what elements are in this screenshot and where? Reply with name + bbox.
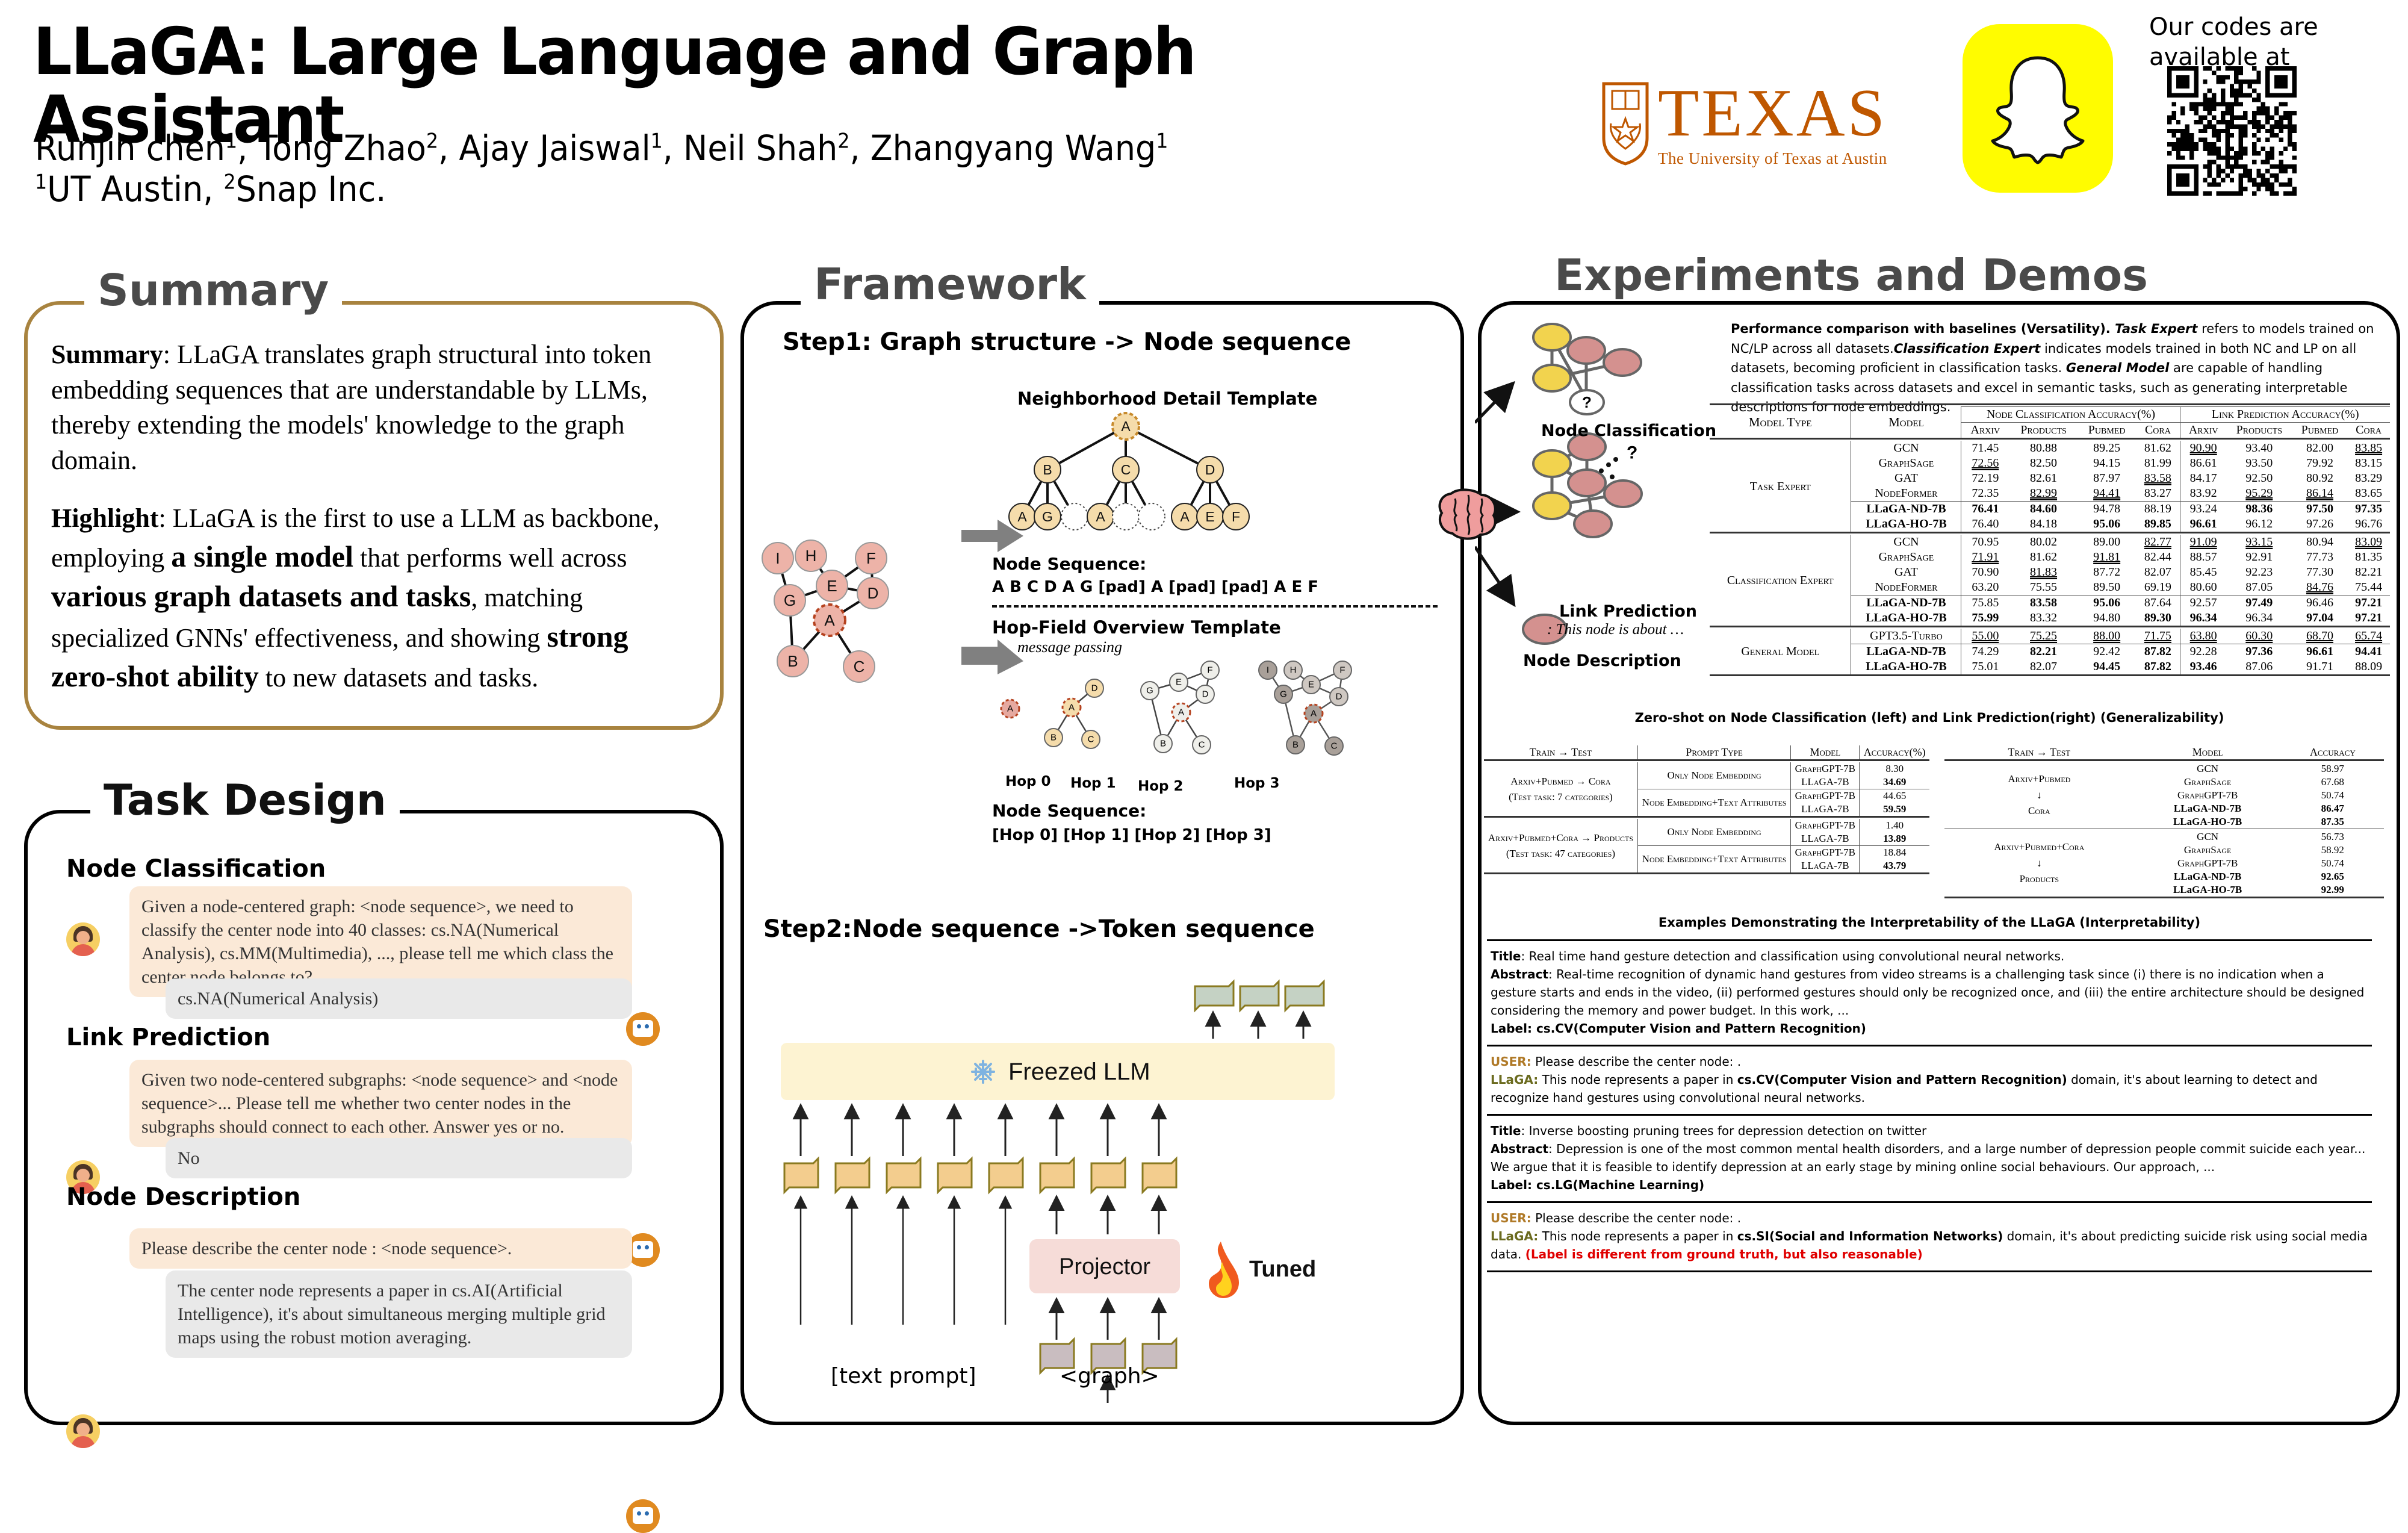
zsl-prompt: Only Node Embedding bbox=[1637, 819, 1790, 846]
row-group-1: Classification Expert bbox=[1710, 535, 1851, 627]
cell-value: 82.07 bbox=[2135, 565, 2180, 580]
task-illustration-diagram: ? ? bbox=[1475, 313, 1728, 711]
zsl-acc: 34.69 bbox=[1860, 776, 1929, 789]
cell-value: 91.09 bbox=[2180, 535, 2226, 550]
cell-value: 89.25 bbox=[2078, 441, 2136, 456]
svg-text:E: E bbox=[1176, 677, 1182, 688]
cell-value: 63.20 bbox=[1961, 580, 2009, 595]
avatar-bot-3 bbox=[626, 1499, 660, 1533]
user-bubble-node-description: Please describe the center node : <node … bbox=[129, 1228, 632, 1269]
framework-divider bbox=[992, 605, 1438, 608]
zsr-acc: 86.47 bbox=[2282, 802, 2384, 815]
cell-value: 95.06 bbox=[2078, 595, 2136, 611]
cell-model: GAT bbox=[1851, 471, 1961, 486]
bot-bubble-node-classification: cs.NA(Numerical Analysis) bbox=[166, 978, 632, 1019]
cell-value: 81.35 bbox=[2347, 550, 2390, 565]
cell-value: 83.65 bbox=[2347, 486, 2390, 502]
snapchat-logo bbox=[1963, 24, 2113, 193]
experiments-intro-paragraph: Performance comparison with baselines (V… bbox=[1731, 319, 2387, 417]
cell-value: 92.42 bbox=[2078, 644, 2136, 660]
svg-text:C: C bbox=[854, 658, 865, 676]
cell-model: GraphSage bbox=[1851, 550, 1961, 565]
cell-value: 77.30 bbox=[2292, 565, 2347, 580]
svg-text:A: A bbox=[1121, 418, 1131, 434]
user-bubble-link-prediction: Given two node-centered subgraphs: <node… bbox=[129, 1060, 632, 1147]
summary-panel-title: Summary bbox=[84, 265, 342, 316]
zsl-prompt: Node Embedding+Text Attributes bbox=[1637, 789, 1790, 817]
cell-value: 75.85 bbox=[1961, 595, 2009, 611]
svg-text:Tuned: Tuned bbox=[1249, 1257, 1316, 1282]
interpretability-examples: Title: Real time hand gesture detection … bbox=[1487, 939, 2372, 1272]
zsr-acc: 92.99 bbox=[2282, 883, 2384, 898]
cell-value: 86.14 bbox=[2292, 486, 2347, 502]
interpretability-caption: Examples Demonstrating the Interpretabil… bbox=[1487, 915, 2372, 930]
hop-label-2: Hop 2 bbox=[1138, 779, 1184, 794]
cell-model: LLaGA-ND-7B bbox=[1851, 502, 1961, 517]
svg-text:?: ? bbox=[1627, 443, 1637, 463]
cell-value: 87.06 bbox=[2226, 659, 2292, 676]
texas-wordmark: TEXAS bbox=[1658, 79, 1887, 147]
zsr-acc: 58.97 bbox=[2282, 762, 2384, 776]
summary-label-1: Summary bbox=[51, 340, 163, 369]
author-list: Runjin chen1, Tong Zhao2, Ajay Jaiswal1,… bbox=[35, 126, 1435, 170]
table-row: Arxiv+Pubmed → Cora(Test task: 7 categor… bbox=[1484, 762, 1929, 776]
th-nc-pubmed: Pubmed bbox=[2078, 423, 2136, 439]
ut-austin-logo: TEXAS The University of Texas at Austin bbox=[1601, 72, 1938, 175]
cell-value: 92.50 bbox=[2226, 471, 2292, 486]
svg-text:B: B bbox=[1050, 733, 1057, 743]
cell-model: LLaGA-HO-7B bbox=[1851, 611, 1961, 627]
cell-value: 84.18 bbox=[2009, 517, 2078, 533]
bot-bubble-node-description: The center node represents a paper in cs… bbox=[166, 1270, 632, 1358]
zsl-model: GraphGPT-7B bbox=[1791, 846, 1860, 860]
cell-model: LLaGA-ND-7B bbox=[1851, 644, 1961, 660]
hop-field-template-title: Hop-Field Overview Template bbox=[992, 617, 1281, 638]
cell-value: 88.57 bbox=[2180, 550, 2226, 565]
cell-value: 84.60 bbox=[2009, 502, 2078, 517]
row-group-0: Task Expert bbox=[1710, 441, 1851, 533]
cell-value: 76.41 bbox=[1961, 502, 2009, 517]
cell-value: 96.76 bbox=[2347, 517, 2390, 533]
cell-value: 81.83 bbox=[2009, 565, 2078, 580]
interp-block: USER: Please describe the center node: .… bbox=[1487, 1203, 2372, 1270]
cell-value: 80.94 bbox=[2292, 535, 2347, 550]
zsl-model: GraphGPT-7B bbox=[1791, 819, 1860, 832]
cell-model: LLaGA-ND-7B bbox=[1851, 595, 1961, 611]
zsl-traintest: Arxiv+Pubmed → Cora(Test task: 7 categor… bbox=[1484, 762, 1637, 817]
zsl-model: LLaGA-7B bbox=[1791, 832, 1860, 846]
cell-model: LLaGA-HO-7B bbox=[1851, 659, 1961, 676]
cell-value: 93.46 bbox=[2180, 659, 2226, 676]
cell-value: 92.91 bbox=[2226, 550, 2292, 565]
zsl-model: GraphGPT-7B bbox=[1791, 762, 1860, 776]
svg-text:A: A bbox=[824, 611, 835, 629]
zsr-model: GraphSage bbox=[2134, 844, 2282, 857]
zsl-header: Prompt Type bbox=[1637, 745, 1790, 760]
highlight-label: Highlight bbox=[51, 503, 159, 533]
cell-value: 94.80 bbox=[2078, 611, 2136, 627]
svg-text:H: H bbox=[1290, 665, 1297, 676]
cell-value: 87.64 bbox=[2135, 595, 2180, 611]
cell-value: 83.27 bbox=[2135, 486, 2180, 502]
cell-value: 91.81 bbox=[2078, 550, 2136, 565]
svg-text:E: E bbox=[827, 577, 837, 595]
zsl-model: LLaGA-7B bbox=[1791, 776, 1860, 789]
table-row: General ModelGPT3.5-Turbo55.0075.2588.00… bbox=[1710, 629, 2390, 644]
cell-model: NodeFormer bbox=[1851, 486, 1961, 502]
svg-text:B: B bbox=[787, 652, 798, 670]
zeroshot-link-prediction-table: Train → TestModelAccuracyArxiv+Pubmed↓Co… bbox=[1944, 745, 2384, 900]
cell-value: 82.21 bbox=[2347, 565, 2390, 580]
cell-value: 85.45 bbox=[2180, 565, 2226, 580]
cell-value: 74.29 bbox=[1961, 644, 2009, 660]
cell-value: 97.36 bbox=[2226, 644, 2292, 660]
svg-text:A: A bbox=[1069, 703, 1075, 713]
legend-node-description-text: : This node is about … bbox=[1547, 621, 1684, 638]
zsl-header: Train → Test bbox=[1484, 745, 1637, 760]
hop-label-0: Hop 0 bbox=[1005, 774, 1051, 789]
cell-value: 77.73 bbox=[2292, 550, 2347, 565]
cell-value: 94.41 bbox=[2078, 486, 2136, 502]
cell-value: 89.50 bbox=[2078, 580, 2136, 595]
svg-text:A: A bbox=[1311, 709, 1317, 719]
svg-text:?: ? bbox=[1582, 393, 1592, 411]
svg-text:G: G bbox=[1042, 509, 1053, 524]
cell-value: 94.45 bbox=[2078, 659, 2136, 676]
cell-value: 75.44 bbox=[2347, 580, 2390, 595]
cell-value: 90.90 bbox=[2180, 441, 2226, 456]
svg-text:G: G bbox=[1146, 686, 1153, 696]
th-nc-arxiv: Arxiv bbox=[1961, 423, 2009, 439]
cell-value: 79.92 bbox=[2292, 456, 2347, 471]
cell-value: 82.50 bbox=[2009, 456, 2078, 471]
cell-value: 82.44 bbox=[2135, 550, 2180, 565]
source-graph-diagram: IHF EDG ABC bbox=[756, 509, 960, 701]
zsr-model: LLaGA-HO-7B bbox=[2134, 815, 2282, 829]
cell-value: 69.19 bbox=[2135, 580, 2180, 595]
svg-text:D: D bbox=[1202, 689, 1209, 700]
cell-value: 96.12 bbox=[2226, 517, 2292, 533]
cell-value: 86.61 bbox=[2180, 456, 2226, 471]
svg-text:Projector: Projector bbox=[1059, 1254, 1150, 1280]
experiments-panel-title: Experiments and Demos bbox=[1541, 250, 2161, 300]
highlight-e: to new datasets and tasks. bbox=[259, 663, 538, 692]
svg-text:D: D bbox=[867, 584, 879, 602]
interp-abstract: Abstract: Real-time recognition of dynam… bbox=[1491, 965, 2368, 1019]
zsl-prompt: Only Node Embedding bbox=[1637, 762, 1790, 789]
cell-value: 92.57 bbox=[2180, 595, 2226, 611]
neighborhood-tree-diagram: ABCD AGA AEF bbox=[987, 409, 1264, 542]
cell-value: 81.99 bbox=[2135, 456, 2180, 471]
interp-abstract: Abstract: Depression is one of the most … bbox=[1491, 1140, 2368, 1176]
zsr-traintest: Arxiv+Pubmed+Cora↓Products bbox=[1944, 830, 2134, 898]
zsr-acc: 56.73 bbox=[2282, 830, 2384, 844]
cell-value: 70.90 bbox=[1961, 565, 2009, 580]
cell-model: GCN bbox=[1851, 441, 1961, 456]
task-label-link-prediction: Link Prediction bbox=[1559, 602, 1697, 621]
cell-value: 84.76 bbox=[2292, 580, 2347, 595]
cell-value: 89.00 bbox=[2078, 535, 2136, 550]
cell-model: NodeFormer bbox=[1851, 580, 1961, 595]
cell-value: 95.29 bbox=[2226, 486, 2292, 502]
th-lp-products: Products bbox=[2226, 423, 2292, 439]
zsr-header: Model bbox=[2134, 745, 2282, 760]
th-nc-products: Products bbox=[2009, 423, 2078, 439]
interp-llaga-line: LLaGA: This node represents a paper in c… bbox=[1491, 1071, 2368, 1107]
row-group-2: General Model bbox=[1710, 629, 1851, 676]
svg-text:B: B bbox=[1043, 462, 1052, 477]
cell-value: 82.21 bbox=[2009, 644, 2078, 660]
th-model-type: Model Type bbox=[1710, 407, 1851, 439]
brain-icon bbox=[1436, 482, 1502, 548]
cell-value: 92.28 bbox=[2180, 644, 2226, 660]
cell-value: 91.71 bbox=[2292, 659, 2347, 676]
svg-text:E: E bbox=[1308, 680, 1314, 690]
avatar-bot-1 bbox=[626, 1012, 660, 1046]
zsl-acc: 13.89 bbox=[1860, 832, 1929, 846]
cell-value: 80.02 bbox=[2009, 535, 2078, 550]
cell-value: 96.34 bbox=[2226, 611, 2292, 627]
cell-value: 95.06 bbox=[2078, 517, 2136, 533]
interp-title: Title: Inverse boosting pruning trees fo… bbox=[1491, 1122, 2368, 1140]
zsr-header: Accuracy bbox=[2282, 745, 2384, 760]
cell-value: 75.01 bbox=[1961, 659, 2009, 676]
texas-subline: The University of Texas at Austin bbox=[1658, 149, 1887, 168]
interp-block: Title: Inverse boosting pruning trees fo… bbox=[1487, 1116, 2372, 1201]
zsl-prompt: Node Embedding+Text Attributes bbox=[1637, 846, 1790, 874]
cell-value: 71.75 bbox=[2135, 629, 2180, 644]
cell-value: 97.49 bbox=[2226, 595, 2292, 611]
zsr-model: LLaGA-ND-7B bbox=[2134, 870, 2282, 883]
cell-value: 71.91 bbox=[1961, 550, 2009, 565]
svg-text:D: D bbox=[1205, 462, 1215, 477]
interp-label: Label: cs.LG(Machine Learning) bbox=[1491, 1176, 2368, 1194]
zsl-header: Accuracy(%) bbox=[1860, 745, 1929, 760]
svg-text:F: F bbox=[866, 549, 876, 567]
highlight-b1: a single model bbox=[171, 540, 353, 573]
cell-value: 83.58 bbox=[2135, 471, 2180, 486]
svg-text:C: C bbox=[1199, 740, 1205, 750]
cell-value: 88.00 bbox=[2078, 629, 2136, 644]
cell-value: 96.34 bbox=[2180, 611, 2226, 627]
interp-block: USER: Please describe the center node: .… bbox=[1487, 1046, 2372, 1114]
cell-value: 97.21 bbox=[2347, 595, 2390, 611]
step2-architecture-diagram: Freezed LLM Projector bbox=[756, 951, 1442, 1409]
zsr-acc: 50.74 bbox=[2282, 789, 2384, 802]
cell-value: 83.58 bbox=[2009, 595, 2078, 611]
graph-label: <graph> bbox=[1060, 1364, 1159, 1388]
cell-value: 75.55 bbox=[2009, 580, 2078, 595]
summary-paragraph-2: Highlight: LLaGA is the first to use a L… bbox=[51, 501, 689, 697]
zsr-header: Train → Test bbox=[1944, 745, 2134, 760]
zsr-acc: 50.74 bbox=[2282, 857, 2384, 870]
cell-value: 87.72 bbox=[2078, 565, 2136, 580]
zeroshot-node-classification-table: Train → TestPrompt TypeModelAccuracy(%)A… bbox=[1484, 745, 1929, 875]
zsl-acc: 1.40 bbox=[1860, 819, 1929, 832]
task-heading-link-prediction: Link Prediction bbox=[66, 1024, 270, 1051]
table-row: Arxiv+Pubmed+Cora → Products(Test task: … bbox=[1484, 819, 1929, 832]
table-row: Classification ExpertGCN70.9580.0289.008… bbox=[1710, 535, 2390, 550]
cell-value: 71.45 bbox=[1961, 441, 2009, 456]
th-group-nc: Node Classification Accuracy(%) bbox=[1961, 407, 2180, 423]
hf-node-sequence-value: [Hop 0] [Hop 1] [Hop 2] [Hop 3] bbox=[992, 826, 1271, 844]
step1-heading: Step1: Graph structure -> Node sequence bbox=[783, 328, 1351, 356]
cell-value: 82.99 bbox=[2009, 486, 2078, 502]
cell-value: 60.30 bbox=[2226, 629, 2292, 644]
zsr-acc: 87.35 bbox=[2282, 815, 2384, 829]
cell-value: 93.40 bbox=[2226, 441, 2292, 456]
cell-value: 80.92 bbox=[2292, 471, 2347, 486]
zsr-acc: 58.92 bbox=[2282, 844, 2384, 857]
table-row: Task ExpertGCN71.4580.8889.2581.6290.909… bbox=[1710, 441, 2390, 456]
cell-value: 97.35 bbox=[2347, 502, 2390, 517]
cell-value: 96.61 bbox=[2292, 644, 2347, 660]
cell-value: 87.82 bbox=[2135, 659, 2180, 676]
cell-value: 92.23 bbox=[2226, 565, 2292, 580]
summary-body: Summary: LLaGA translates graph structur… bbox=[51, 337, 689, 720]
text-prompt-label: [text prompt] bbox=[831, 1364, 976, 1388]
zsl-acc: 44.65 bbox=[1860, 789, 1929, 803]
cell-value: 63.80 bbox=[2180, 629, 2226, 644]
svg-text:F: F bbox=[1339, 665, 1345, 676]
cell-value: 88.09 bbox=[2347, 659, 2390, 676]
hop-label-1: Hop 1 bbox=[1070, 776, 1116, 791]
cell-value: 83.29 bbox=[2347, 471, 2390, 486]
cell-value: 94.41 bbox=[2347, 644, 2390, 660]
highlight-c: that performs well across bbox=[353, 543, 627, 573]
zsl-acc: 18.84 bbox=[1860, 846, 1929, 860]
cell-value: 84.17 bbox=[2180, 471, 2226, 486]
task-design-panel-title: Task Design bbox=[90, 776, 400, 825]
cell-value: 96.46 bbox=[2292, 595, 2347, 611]
svg-text:B: B bbox=[1292, 740, 1299, 750]
step2-heading: Step2:Node sequence ->Token sequence bbox=[763, 915, 1315, 943]
cell-model: GCN bbox=[1851, 535, 1961, 550]
cell-value: 81.62 bbox=[2135, 441, 2180, 456]
cell-value: 83.92 bbox=[2180, 486, 2226, 502]
cell-value: 89.30 bbox=[2135, 611, 2180, 627]
cell-value: 72.19 bbox=[1961, 471, 2009, 486]
svg-text:C: C bbox=[1088, 735, 1094, 745]
table-row: Arxiv+Pubmed↓CoraGCN58.97 bbox=[1944, 762, 2384, 776]
th-lp-arxiv: Arxiv bbox=[2180, 423, 2226, 439]
zsr-model: LLaGA-HO-7B bbox=[2134, 883, 2282, 898]
cell-value: 70.95 bbox=[1961, 535, 2009, 550]
svg-text:I: I bbox=[1267, 665, 1269, 676]
svg-text:C: C bbox=[1121, 462, 1131, 477]
svg-text:G: G bbox=[784, 591, 796, 609]
interp-llaga-line: LLaGA: This node represents a paper in c… bbox=[1491, 1227, 2368, 1263]
zsr-model: GCN bbox=[2134, 762, 2282, 776]
zsr-model: GraphGPT-7B bbox=[2134, 789, 2282, 802]
svg-text:I: I bbox=[775, 549, 780, 567]
highlight-b2: various graph datasets and tasks bbox=[51, 579, 471, 613]
cell-value: 98.36 bbox=[2226, 502, 2292, 517]
cell-model: LLaGA-HO-7B bbox=[1851, 517, 1961, 533]
zsl-acc: 59.59 bbox=[1860, 803, 1929, 817]
zsr-model: GCN bbox=[2134, 830, 2282, 844]
th-lp-pubmed: Pubmed bbox=[2292, 423, 2347, 439]
zsl-model: LLaGA-7B bbox=[1791, 859, 1860, 874]
zsr-acc: 67.68 bbox=[2282, 776, 2384, 789]
zsl-acc: 8.30 bbox=[1860, 762, 1929, 776]
cell-value: 80.60 bbox=[2180, 580, 2226, 595]
cell-value: 93.15 bbox=[2226, 535, 2292, 550]
cell-value: 82.61 bbox=[2009, 471, 2078, 486]
zsl-traintest: Arxiv+Pubmed+Cora → Products(Test task: … bbox=[1484, 819, 1637, 874]
qr-code bbox=[2167, 66, 2297, 196]
cell-value: 82.07 bbox=[2009, 659, 2078, 676]
bot-bubble-link-prediction: No bbox=[166, 1138, 632, 1178]
th-group-lp: Link Prediction Accuracy(%) bbox=[2180, 407, 2390, 423]
cell-value: 94.78 bbox=[2078, 502, 2136, 517]
cell-model: GPT3.5-Turbo bbox=[1851, 629, 1961, 644]
task-label-node-description: Node Description bbox=[1523, 651, 1681, 670]
svg-text:A: A bbox=[1007, 704, 1013, 714]
zsr-model: GraphGPT-7B bbox=[2134, 857, 2282, 870]
task-heading-node-description: Node Description bbox=[66, 1183, 300, 1211]
svg-text:C: C bbox=[1331, 741, 1338, 751]
hop-field-diagram: A DABC FEDG ABC bbox=[987, 653, 1445, 774]
task-heading-node-classification: Node Classification bbox=[66, 855, 326, 883]
cell-value: 72.35 bbox=[1961, 486, 2009, 502]
zsl-model: LLaGA-7B bbox=[1791, 803, 1860, 817]
interp-user-line: USER: Please describe the center node: . bbox=[1491, 1209, 2368, 1227]
cell-value: 83.09 bbox=[2347, 535, 2390, 550]
cell-value: 68.70 bbox=[2292, 629, 2347, 644]
intro-segment: Classification Expert bbox=[1894, 341, 2041, 356]
cell-value: 93.50 bbox=[2226, 456, 2292, 471]
main-results-table: Model TypeModelNode Classification Accur… bbox=[1710, 403, 2390, 677]
cell-value: 82.00 bbox=[2292, 441, 2347, 456]
interp-title: Title: Real time hand gesture detection … bbox=[1491, 947, 2368, 965]
cell-value: 83.15 bbox=[2347, 456, 2390, 471]
cell-value: 97.21 bbox=[2347, 611, 2390, 627]
avatar-user-3 bbox=[66, 1414, 100, 1448]
svg-text:A: A bbox=[1017, 509, 1027, 524]
codes-available-label: Our codes are available at bbox=[2149, 12, 2348, 72]
th-nc-cora: Cora bbox=[2135, 423, 2180, 439]
hop-label-3: Hop 3 bbox=[1234, 776, 1280, 791]
cell-value: 80.88 bbox=[2009, 441, 2078, 456]
cell-model: GraphSage bbox=[1851, 456, 1961, 471]
cell-value: 82.77 bbox=[2135, 535, 2180, 550]
th-lp-cora: Cora bbox=[2347, 423, 2390, 439]
cell-value: 94.15 bbox=[2078, 456, 2136, 471]
cell-value: 65.74 bbox=[2347, 629, 2390, 644]
avatar-user-1 bbox=[66, 922, 100, 956]
cell-value: 55.00 bbox=[1961, 629, 2009, 644]
svg-text:H: H bbox=[805, 547, 817, 565]
interp-block: Title: Real time hand gesture detection … bbox=[1487, 941, 2372, 1045]
zsl-model: GraphGPT-7B bbox=[1791, 789, 1860, 803]
zsr-model: LLaGA-ND-7B bbox=[2134, 802, 2282, 815]
svg-text:A: A bbox=[1180, 509, 1190, 524]
cell-value: 97.26 bbox=[2292, 517, 2347, 533]
cell-value: 83.32 bbox=[2009, 611, 2078, 627]
cell-value: 81.62 bbox=[2009, 550, 2078, 565]
interp-label: Label: cs.CV(Computer Vision and Pattern… bbox=[1491, 1019, 2368, 1037]
zsr-model: GraphSage bbox=[2134, 776, 2282, 789]
th-model: Model bbox=[1851, 407, 1961, 439]
svg-text:A: A bbox=[1096, 509, 1105, 524]
intro-segment: Task Expert bbox=[2115, 322, 2197, 336]
zsl-header: Model bbox=[1791, 745, 1860, 760]
cell-model: GAT bbox=[1851, 565, 1961, 580]
svg-text:D: D bbox=[1336, 692, 1342, 702]
framework-panel-title: Framework bbox=[801, 259, 1099, 309]
svg-text:E: E bbox=[1205, 509, 1214, 524]
